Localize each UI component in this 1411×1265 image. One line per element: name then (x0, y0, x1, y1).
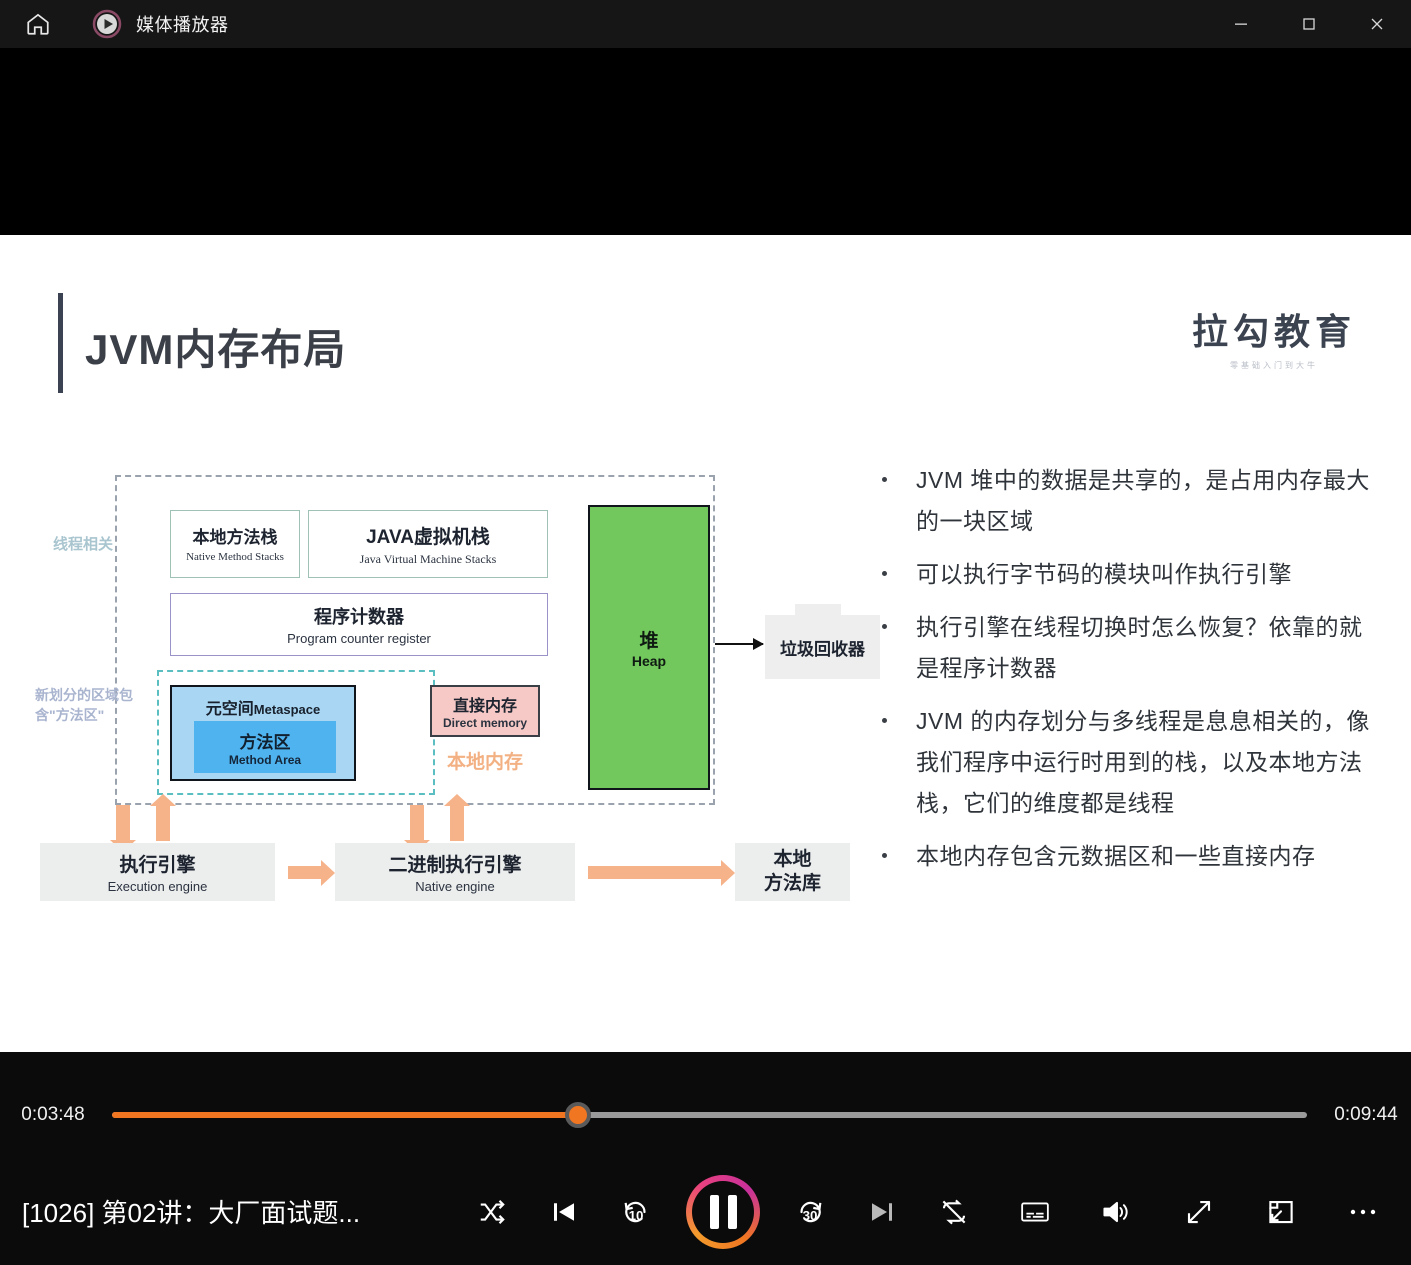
brand-subtitle: 零基础入门到大牛 (1192, 360, 1356, 371)
box-native-method-stacks-cn: 本地方法栈 (193, 523, 278, 548)
pause-icon (710, 1195, 737, 1229)
list-item: 本地内存包含元数据区和一些直接内存 (868, 836, 1378, 877)
box-metaspace-en: Metaspace (254, 702, 320, 717)
secondary-controls (1013, 1190, 1385, 1234)
box-native-method-stacks-en: Native Method Stacks (186, 551, 284, 565)
list-item: JVM 堆中的数据是共享的，是占用内存最大的一块区域 (868, 460, 1378, 542)
bullet-text: 执行引擎在线程切换时怎么恢复？依靠的就是程序计数器 (916, 607, 1378, 689)
arrow-exec-to-native (288, 866, 322, 879)
forward-30-icon: 30 (793, 1195, 827, 1229)
mini-player-button[interactable] (1259, 1190, 1303, 1234)
box-garbage-collector: 垃圾回收器 (765, 615, 880, 679)
rewind-10-icon: 10 (619, 1195, 653, 1229)
brand-logo: 拉勾教育 零基础入门到大牛 (1192, 303, 1356, 371)
title-bar: 媒体播放器 (0, 0, 1411, 48)
list-item: JVM 的内存划分与多线程是息息相关的，像我们程序中运行时用到的栈，以及本地方法… (868, 701, 1378, 824)
box-pc-register-cn: 程序计数器 (314, 603, 404, 629)
arrow-native-to-library (588, 866, 722, 879)
box-native-engine-en: Native engine (415, 879, 495, 894)
previous-track-icon (549, 1197, 579, 1227)
box-direct-memory-cn: 直接内存 (453, 692, 517, 716)
slide-title: JVM内存布局 (85, 316, 346, 377)
seek-bar-fill (112, 1112, 578, 1118)
box-execution-engine-en: Execution engine (108, 879, 208, 894)
more-options-button[interactable] (1341, 1190, 1385, 1234)
arrow-down-exec-engine (116, 805, 130, 841)
previous-track-button[interactable] (542, 1190, 586, 1234)
window-controls (1207, 0, 1411, 48)
arrow-up-exec-engine (156, 805, 170, 841)
fullscreen-icon (1184, 1197, 1214, 1227)
slide-header: JVM内存布局 拉勾教育 零基础入门到大牛 (0, 283, 1411, 403)
box-method-area-cn: 方法区 (240, 728, 291, 753)
home-icon (25, 11, 51, 37)
brand-name: 拉勾教育 (1192, 303, 1356, 355)
box-method-area-en: Method Area (229, 753, 301, 767)
box-metaspace-cn: 元空间 (206, 701, 254, 718)
box-native-engine-cn: 二进制执行引擎 (388, 850, 521, 877)
bullet-text: 本地内存包含元数据区和一些直接内存 (916, 836, 1378, 877)
box-native-engine: 二进制执行引擎 Native engine (335, 843, 575, 901)
maximize-button[interactable] (1275, 0, 1343, 48)
maximize-icon (1301, 16, 1317, 32)
bullet-text: 可以执行字节码的模块叫作执行引擎 (916, 554, 1378, 595)
total-time: 0:09:44 (1321, 1104, 1411, 1126)
label-thread-related: 线程相关 (53, 535, 143, 555)
box-pc-register-en: Program counter register (287, 631, 431, 646)
slide-content: JVM内存布局 拉勾教育 零基础入门到大牛 线程相关 新划分的区域包含"方法区"… (0, 235, 1411, 1052)
box-native-library-cn: 本地 方法库 (764, 848, 821, 896)
box-execution-engine: 执行引擎 Execution engine (40, 843, 275, 901)
box-pc-register: 程序计数器 Program counter register (170, 593, 548, 656)
mini-player-icon (1266, 1197, 1296, 1227)
current-time: 0:03:48 (8, 1104, 98, 1126)
svg-text:30: 30 (803, 1207, 818, 1222)
volume-button[interactable] (1095, 1190, 1139, 1234)
more-options-icon (1348, 1207, 1378, 1217)
seek-bar[interactable] (112, 1112, 1307, 1118)
transport-controls: 10 30 (470, 1175, 976, 1249)
minimize-button[interactable] (1207, 0, 1275, 48)
seek-bar-thumb[interactable] (565, 1102, 591, 1128)
shuffle-button[interactable] (470, 1190, 514, 1234)
now-playing-title: [1026] 第02讲：大厂面试题... (22, 1193, 360, 1230)
title-accent-bar (58, 293, 63, 393)
box-metaspace-label: 元空间Metaspace (206, 695, 321, 719)
next-track-icon (867, 1197, 897, 1227)
arrow-down-native-engine (410, 805, 424, 841)
app-title: 媒体播放器 (136, 11, 229, 37)
box-native-method-stacks: 本地方法栈 Native Method Stacks (170, 510, 300, 578)
box-native-library: 本地 方法库 (735, 843, 850, 901)
fullscreen-button[interactable] (1177, 1190, 1221, 1234)
media-player-window: 媒体播放器 JVM内存布局 (0, 0, 1411, 1265)
box-heap: 堆 Heap (588, 505, 710, 790)
subtitles-button[interactable] (1013, 1190, 1057, 1234)
close-icon (1369, 16, 1385, 32)
play-pause-button[interactable] (686, 1175, 760, 1249)
minimize-icon (1233, 16, 1249, 32)
home-button[interactable] (14, 0, 62, 48)
player-controls: [1026] 第02讲：大厂面试题... 10 (0, 1158, 1411, 1265)
next-track-button[interactable] (860, 1190, 904, 1234)
repeat-off-icon (939, 1197, 969, 1227)
box-garbage-collector-cn: 垃圾回收器 (780, 635, 865, 660)
box-jvm-stacks-cn: JAVA虚拟机栈 (366, 522, 490, 549)
app-logo (92, 9, 122, 39)
box-method-area: 方法区 Method Area (194, 721, 336, 773)
arrow-heap-to-gc (715, 643, 763, 645)
jvm-memory-diagram: 线程相关 新划分的区域包含"方法区" 本地方法栈 Native Method S… (30, 475, 860, 945)
bullet-list: JVM 堆中的数据是共享的，是占用内存最大的一块区域 可以执行字节码的模块叫作执… (868, 460, 1378, 888)
play-circle-icon (92, 9, 122, 39)
subtitles-icon (1020, 1199, 1050, 1225)
repeat-button[interactable] (932, 1190, 976, 1234)
volume-icon (1101, 1198, 1133, 1226)
label-new-area: 新划分的区域包含"方法区" (35, 685, 155, 726)
box-jvm-stacks-en: Java Virtual Machine Stacks (360, 552, 497, 567)
arrow-up-native-engine (450, 805, 464, 841)
progress-row: 0:03:48 0:09:44 (0, 1080, 1411, 1150)
label-local-memory: 本地内存 (430, 747, 540, 774)
shuffle-off-icon (477, 1197, 507, 1227)
box-jvm-stacks: JAVA虚拟机栈 Java Virtual Machine Stacks (308, 510, 548, 578)
bullet-text: JVM 堆中的数据是共享的，是占用内存最大的一块区域 (916, 460, 1378, 542)
close-button[interactable] (1343, 0, 1411, 48)
video-surface[interactable]: JVM内存布局 拉勾教育 零基础入门到大牛 线程相关 新划分的区域包含"方法区"… (0, 48, 1411, 1048)
box-direct-memory: 直接内存 Direct memory (430, 685, 540, 737)
bullet-text: JVM 的内存划分与多线程是息息相关的，像我们程序中运行时用到的栈，以及本地方法… (916, 701, 1378, 824)
box-heap-en: Heap (632, 653, 666, 669)
svg-text:10: 10 (629, 1207, 644, 1222)
box-heap-cn: 堆 (639, 626, 658, 653)
box-execution-engine-cn: 执行引擎 (119, 850, 195, 877)
list-item: 可以执行字节码的模块叫作执行引擎 (868, 554, 1378, 595)
box-metaspace: 元空间Metaspace 方法区 Method Area (170, 685, 356, 781)
box-direct-memory-en: Direct memory (443, 716, 527, 730)
list-item: 执行引擎在线程切换时怎么恢复？依靠的就是程序计数器 (868, 607, 1378, 689)
rewind-10-button[interactable]: 10 (614, 1190, 658, 1234)
forward-30-button[interactable]: 30 (788, 1190, 832, 1234)
